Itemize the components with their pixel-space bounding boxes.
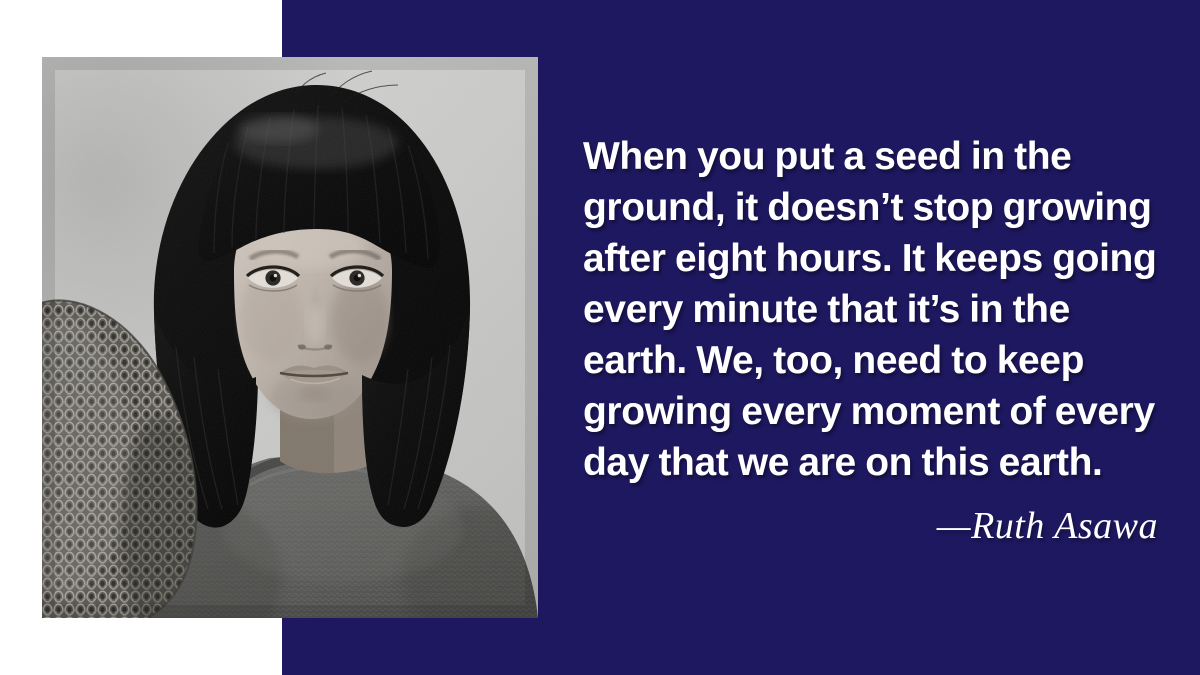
quote-text: When you put a seed in the ground, it do… — [583, 131, 1163, 488]
quote-block: When you put a seed in the ground, it do… — [583, 131, 1163, 548]
portrait-photo — [42, 57, 538, 618]
vertical-banner: LEADERSHIP QUOTE OF THE WEEK — [0, 0, 42, 675]
portrait-photo-image — [42, 57, 538, 618]
quote-attribution: —Ruth Asawa — [583, 504, 1163, 548]
quote-card: LEADERSHIP QUOTE OF THE WEEK — [0, 0, 1200, 675]
